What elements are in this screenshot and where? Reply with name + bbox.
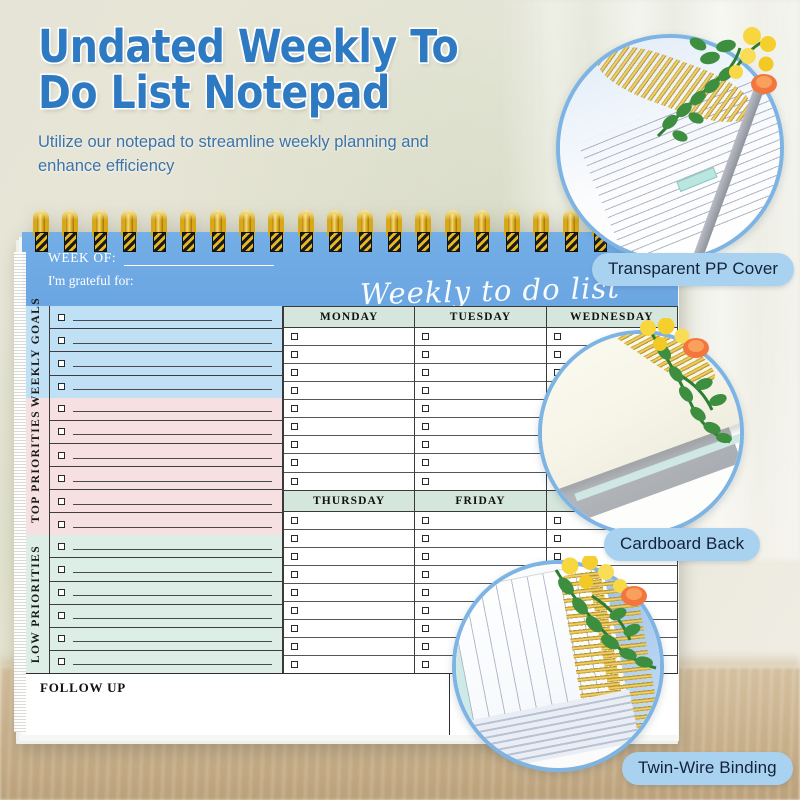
- checklist-row[interactable]: [50, 582, 282, 605]
- checklist-row[interactable]: [50, 352, 282, 375]
- checklist-row[interactable]: [415, 548, 545, 566]
- checkbox-icon[interactable]: [291, 535, 298, 542]
- spiral-clip: [35, 232, 48, 252]
- checkbox-icon[interactable]: [422, 405, 429, 412]
- write-line: [73, 527, 272, 528]
- checklist-row[interactable]: [50, 513, 282, 535]
- checkbox-icon[interactable]: [422, 387, 429, 394]
- checklist-row[interactable]: [284, 584, 414, 602]
- cardboard-back-photo: [542, 334, 740, 532]
- section-rows: [50, 535, 282, 673]
- spiral-clip: [388, 232, 401, 252]
- checklist-row[interactable]: [50, 421, 282, 444]
- checklist-row[interactable]: [284, 364, 414, 382]
- write-line: [73, 618, 272, 619]
- weekday-header-tuesday: TUESDAY: [414, 306, 545, 328]
- checklist-row[interactable]: [284, 512, 414, 530]
- spiral-coil: [238, 210, 256, 256]
- section-rows: [50, 306, 282, 398]
- spiral-coil: [326, 210, 344, 256]
- checkbox-icon[interactable]: [422, 535, 429, 542]
- checkbox-icon[interactable]: [291, 459, 298, 466]
- checkbox-icon[interactable]: [291, 661, 298, 668]
- notepad-page-edges: [14, 252, 26, 732]
- callout-circle-cardboard-back: [538, 330, 744, 536]
- spiral-clip: [447, 232, 460, 252]
- checkbox-icon[interactable]: [291, 517, 298, 524]
- checklist-row[interactable]: [284, 382, 414, 400]
- checklist-row[interactable]: [284, 418, 414, 436]
- checkbox-icon[interactable]: [58, 635, 65, 642]
- checklist-row[interactable]: [284, 346, 414, 364]
- write-line: [73, 434, 272, 435]
- write-line: [73, 664, 272, 665]
- callout-label-twin-wire-binding: Twin-Wire Binding: [622, 752, 793, 785]
- spiral-coil: [61, 210, 79, 256]
- write-line: [73, 549, 272, 550]
- twin-wire-photo: Weekly to do list: [456, 564, 660, 768]
- spiral-coil: [414, 210, 432, 256]
- checklist-row[interactable]: [415, 512, 545, 530]
- checkbox-icon[interactable]: [554, 553, 561, 560]
- section-label-tab: LOW PRIORITIES: [22, 535, 50, 673]
- checklist-row[interactable]: [415, 473, 545, 490]
- priority-section: TOP PRIORITIES: [22, 398, 282, 536]
- spiral-coil: [473, 210, 491, 256]
- spiral-coil: [150, 210, 168, 256]
- checklist-row[interactable]: [284, 400, 414, 418]
- spiral-coil: [32, 210, 50, 256]
- spiral-coil: [356, 210, 374, 256]
- checklist-row[interactable]: [415, 436, 545, 454]
- spiral-clip: [329, 232, 342, 252]
- section-label-tab: TOP PRIORITIES: [22, 398, 50, 536]
- checkbox-icon[interactable]: [291, 405, 298, 412]
- weekday-column-thursday: [283, 512, 414, 674]
- checklist-row[interactable]: [284, 530, 414, 548]
- checklist-row[interactable]: [50, 535, 282, 558]
- checklist-row[interactable]: [284, 473, 414, 490]
- checklist-row[interactable]: [50, 398, 282, 421]
- checklist-row[interactable]: [50, 605, 282, 628]
- weekday-column-tuesday: [414, 328, 545, 490]
- checklist-row[interactable]: [284, 548, 414, 566]
- checklist-row[interactable]: [415, 530, 545, 548]
- checkbox-icon[interactable]: [58, 360, 65, 367]
- spiral-clip: [359, 232, 372, 252]
- spiral-clip: [241, 232, 254, 252]
- spiral-clip: [417, 232, 430, 252]
- checkbox-icon[interactable]: [58, 521, 65, 528]
- section-label-tab: WEEKLY GOALS: [22, 306, 50, 398]
- checklist-row[interactable]: [415, 364, 545, 382]
- spiral-coil: [297, 210, 315, 256]
- checklist-row[interactable]: [415, 328, 545, 346]
- spiral-coil: [267, 210, 285, 256]
- page-title: Undated Weekly To Do List Notepad: [38, 24, 504, 117]
- checkbox-icon[interactable]: [58, 428, 65, 435]
- checklist-row[interactable]: [50, 329, 282, 352]
- spiral-clip: [535, 232, 548, 252]
- weekday-header-wednesday: WEDNESDAY: [546, 306, 678, 328]
- checkbox-icon[interactable]: [58, 566, 65, 573]
- spiral-clip: [153, 232, 166, 252]
- section-rows: [50, 398, 282, 536]
- callout-circle-transparent-pp-cover: [556, 34, 784, 262]
- checklist-row[interactable]: [50, 628, 282, 651]
- checklist-row[interactable]: [284, 602, 414, 620]
- checkbox-icon[interactable]: [291, 333, 298, 340]
- checkbox-icon[interactable]: [422, 643, 429, 650]
- spiral-clip: [270, 232, 283, 252]
- weekday-header-thursday: THURSDAY: [283, 490, 414, 512]
- weekday-column-monday: [283, 328, 414, 490]
- follow-up-label: FOLLOW UP: [40, 680, 126, 695]
- spiral-clip: [123, 232, 136, 252]
- checkbox-icon[interactable]: [291, 369, 298, 376]
- checkbox-icon[interactable]: [58, 498, 65, 505]
- spiral-clip: [506, 232, 519, 252]
- checkbox-icon[interactable]: [422, 625, 429, 632]
- checklist-row[interactable]: [50, 490, 282, 513]
- checkbox-icon[interactable]: [58, 658, 65, 665]
- follow-up-box: FOLLOW UP: [22, 674, 450, 735]
- checklist-row[interactable]: [50, 558, 282, 581]
- checkbox-icon[interactable]: [58, 452, 65, 459]
- pp-cover-photo: [560, 38, 780, 258]
- checkbox-icon[interactable]: [554, 535, 561, 542]
- checkbox-icon[interactable]: [58, 475, 65, 482]
- write-line: [73, 572, 272, 573]
- checklist-row[interactable]: [50, 467, 282, 490]
- checkbox-icon[interactable]: [422, 607, 429, 614]
- spiral-coil: [532, 210, 550, 256]
- section-label: WEEKLY GOALS: [30, 297, 42, 407]
- checkbox-icon[interactable]: [58, 337, 65, 344]
- checkbox-icon[interactable]: [58, 405, 65, 412]
- write-line: [73, 641, 272, 642]
- write-line: [73, 343, 272, 344]
- page-subtitle: Utilize our notepad to streamline weekly…: [38, 131, 468, 179]
- checklist-row[interactable]: [284, 638, 414, 656]
- checkbox-icon[interactable]: [291, 589, 298, 596]
- weekday-header-row: MONDAYTUESDAYWEDNESDAY: [283, 306, 678, 328]
- spiral-coil: [91, 210, 109, 256]
- spiral-coil: [179, 210, 197, 256]
- weekday-header-monday: MONDAY: [283, 306, 414, 328]
- checkbox-icon[interactable]: [58, 612, 65, 619]
- checkbox-icon[interactable]: [291, 441, 298, 448]
- write-line: [73, 595, 272, 596]
- checkbox-icon[interactable]: [291, 643, 298, 650]
- checklist-row[interactable]: [284, 620, 414, 638]
- spiral-clip: [64, 232, 77, 252]
- checkbox-icon[interactable]: [58, 383, 65, 390]
- checkbox-icon[interactable]: [422, 369, 429, 376]
- checklist-row[interactable]: [284, 454, 414, 472]
- section-label: LOW PRIORITIES: [30, 545, 42, 663]
- write-line: [73, 481, 272, 482]
- checkbox-icon[interactable]: [58, 543, 65, 550]
- checkbox-icon[interactable]: [422, 333, 429, 340]
- checkbox-icon[interactable]: [291, 478, 298, 485]
- spiral-clip: [476, 232, 489, 252]
- spiral-coil: [385, 210, 403, 256]
- checkbox-icon[interactable]: [422, 571, 429, 578]
- spiral-coil: [120, 210, 138, 256]
- section-label: TOP PRIORITIES: [30, 410, 42, 523]
- spiral-clip: [300, 232, 313, 252]
- checklist-row[interactable]: [50, 306, 282, 329]
- checklist-row[interactable]: [415, 400, 545, 418]
- week-of-write-line: [124, 255, 274, 266]
- checkbox-icon[interactable]: [291, 553, 298, 560]
- spiral-clip: [212, 232, 225, 252]
- checkbox-icon[interactable]: [422, 423, 429, 430]
- checkbox-icon[interactable]: [58, 314, 65, 321]
- checkbox-icon[interactable]: [422, 553, 429, 560]
- weekday-header-friday: FRIDAY: [414, 490, 545, 512]
- checkbox-icon[interactable]: [291, 387, 298, 394]
- checkbox-icon[interactable]: [422, 589, 429, 596]
- checkbox-icon[interactable]: [422, 517, 429, 524]
- hero-text-block: Undated Weekly To Do List Notepad Utiliz…: [38, 24, 568, 179]
- checkbox-icon[interactable]: [291, 423, 298, 430]
- checkbox-icon[interactable]: [422, 478, 429, 485]
- spiral-coil: [209, 210, 227, 256]
- priorities-column: WEEKLY GOALSTOP PRIORITIESLOW PRIORITIES: [22, 306, 282, 673]
- checklist-row[interactable]: [415, 454, 545, 472]
- checklist-row[interactable]: [50, 444, 282, 467]
- checkbox-icon[interactable]: [58, 589, 65, 596]
- checkbox-icon[interactable]: [422, 351, 429, 358]
- spiral-clip: [182, 232, 195, 252]
- write-line: [73, 504, 272, 505]
- checklist-row[interactable]: [50, 651, 282, 673]
- notepad-script-title: Weekly to do list: [360, 271, 621, 306]
- checkbox-icon[interactable]: [291, 351, 298, 358]
- checklist-row[interactable]: [50, 376, 282, 398]
- write-line: [73, 366, 272, 367]
- checklist-row[interactable]: [284, 436, 414, 454]
- priority-section: LOW PRIORITIES: [22, 535, 282, 673]
- spiral-coil: [444, 210, 462, 256]
- checkbox-icon[interactable]: [422, 441, 429, 448]
- write-line: [73, 411, 272, 412]
- callout-circle-twin-wire-binding: Weekly to do list: [452, 560, 664, 772]
- checklist-row[interactable]: [284, 328, 414, 346]
- priority-section: WEEKLY GOALS: [22, 306, 282, 398]
- write-line: [73, 458, 272, 459]
- write-line: [73, 389, 272, 390]
- checklist-row[interactable]: [284, 656, 414, 673]
- checklist-row[interactable]: [415, 382, 545, 400]
- callout-label-cardboard-back: Cardboard Back: [604, 528, 760, 561]
- checkbox-icon[interactable]: [422, 459, 429, 466]
- checklist-row[interactable]: [415, 418, 545, 436]
- checkbox-icon[interactable]: [422, 661, 429, 668]
- checklist-row[interactable]: [284, 566, 414, 584]
- spiral-clip: [94, 232, 107, 252]
- checkbox-icon[interactable]: [291, 571, 298, 578]
- checklist-row[interactable]: [415, 346, 545, 364]
- write-line: [73, 320, 272, 321]
- checkbox-icon[interactable]: [291, 607, 298, 614]
- callout-label-transparent-pp-cover: Transparent PP Cover: [592, 253, 794, 286]
- checkbox-icon[interactable]: [291, 625, 298, 632]
- spiral-coil: [503, 210, 521, 256]
